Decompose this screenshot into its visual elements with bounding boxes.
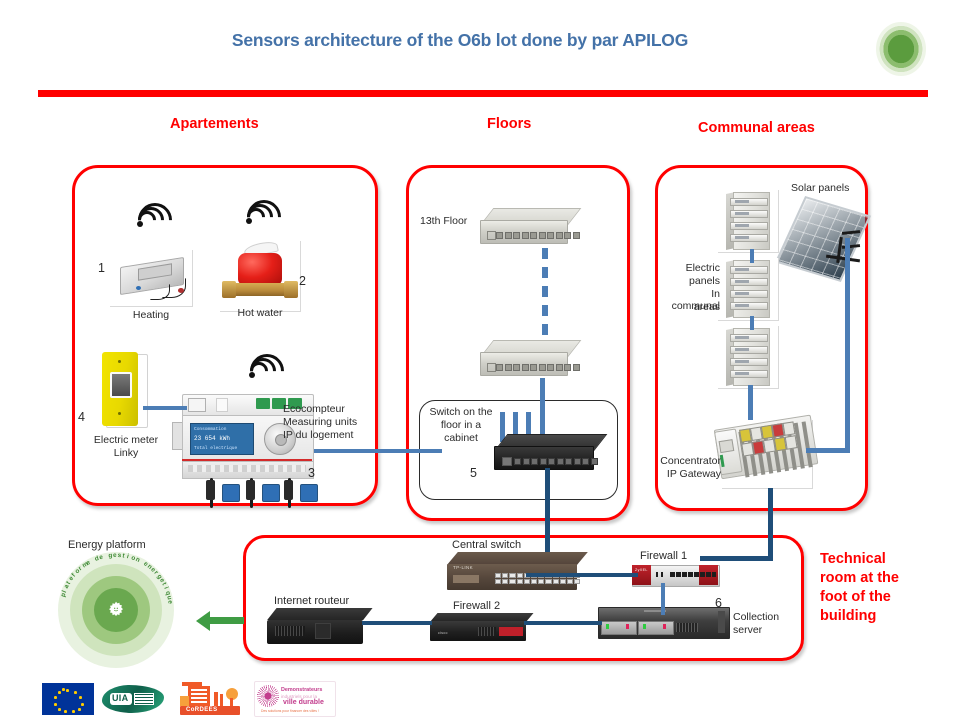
floor-cabinet-switch-image — [494, 434, 592, 470]
wire-cabinet-to-central-switch — [545, 468, 550, 558]
wire-panel1-panel2 — [750, 249, 754, 263]
linky-meter-image — [100, 350, 148, 432]
ecocompteur-screen: Consommation 23 654 kWh Total electrique — [190, 423, 254, 455]
slide-canvas: Sensors architecture of the O6b lot done… — [0, 0, 960, 720]
label-technical-room-line4: building — [820, 607, 950, 626]
section-caption-floors: Floors — [487, 116, 531, 132]
wire-panel2-panel3 — [750, 316, 754, 330]
wire-ecocompteur-to-floor-switch — [314, 449, 442, 453]
label-cabinet-line3: cabinet — [424, 432, 498, 444]
callout-number-3: 3 — [308, 466, 315, 480]
water-meter-image — [220, 241, 301, 312]
label-electric-panels-line2: panels — [665, 275, 720, 287]
demonstrateurs-logo: Demonstrateurs industriels pour la ville… — [254, 681, 336, 717]
label-technical-room-line2: room at the — [820, 569, 950, 588]
demonstrateurs-line1: Demonstrateurs — [281, 687, 322, 693]
label-technical-room: Technical room at the foot of the buildi… — [820, 550, 950, 627]
label-energy-platform: Energy platform — [68, 539, 146, 552]
eu-flag-logo — [42, 683, 94, 715]
label-heating: Heating — [110, 309, 192, 321]
label-concentrator-line1: Concentrator — [655, 455, 721, 467]
header-divider — [38, 90, 928, 97]
brand-circle-logo — [876, 22, 926, 76]
section-caption-apartments: Apartements — [170, 116, 259, 132]
callout-number-4: 4 — [78, 410, 85, 424]
ecocompteur-reading: 23 654 kWh — [194, 435, 230, 442]
energy-platform-logo: plateforme de gestion energetique — [58, 552, 174, 668]
label-technical-room-line3: foot of the — [820, 588, 950, 607]
label-collection-server-line2: server — [733, 624, 762, 636]
electric-panel-image-2 — [718, 258, 779, 321]
wire-linky-to-ecocompteur — [143, 406, 187, 410]
label-firewall-2: Firewall 2 — [453, 600, 500, 613]
label-firewall-1: Firewall 1 — [640, 550, 687, 563]
label-ecocompteur-line2: Measuring units — [283, 416, 403, 428]
wifi-icon-hotwater — [243, 203, 273, 227]
electric-panel-image-3 — [718, 326, 779, 389]
label-ecocompteur-line3: IP du logement — [283, 429, 403, 441]
uia-logo: UIA — [102, 682, 164, 716]
label-central-switch: Central switch — [452, 539, 521, 552]
label-ecocompteur-line1: Ecocompteur — [283, 403, 403, 415]
callout-number-1: 1 — [98, 261, 105, 275]
floor-switch-top-image — [480, 208, 566, 244]
wire-solar-down — [845, 238, 850, 452]
green-arrow-head — [196, 611, 210, 631]
wire-dashed-floors — [542, 248, 548, 342]
label-cabinet-line1: Switch on the — [424, 406, 498, 418]
wire-router-to-firewall2 — [362, 621, 432, 625]
concentrator-image — [722, 420, 813, 489]
green-arrow-shaft — [210, 617, 244, 624]
callout-number-2: 2 — [299, 274, 306, 288]
wire-switch-to-firewall1 — [526, 573, 638, 577]
label-solar-panels: Solar panels — [791, 182, 849, 194]
wire-firewall1-to-server — [661, 583, 665, 615]
demonstrateurs-line4: Des solutions pour financer des villes ! — [261, 709, 319, 713]
page-title: Sensors architecture of the O6b lot done… — [120, 30, 800, 51]
label-concentrator-line2: IP Gateway — [655, 468, 721, 480]
label-electric-panels-line4: areas — [665, 301, 720, 313]
section-caption-communal: Communal areas — [698, 120, 815, 136]
firewall-1-image: ZyXEL — [632, 565, 718, 585]
gear-icon — [106, 600, 126, 620]
wifi-icon-heating — [134, 206, 164, 230]
uia-logo-text: UIA — [112, 693, 128, 703]
internet-router-image — [267, 608, 363, 644]
floor-switch-middle-image — [480, 340, 566, 376]
demonstrateurs-line3: ville durable — [283, 699, 324, 706]
label-internet-router: Internet routeur — [274, 595, 349, 608]
wire-solar-to-concentrator — [806, 448, 850, 453]
wifi-icon-ecocompteur — [246, 357, 276, 381]
firewall-2-image: cisco — [430, 613, 526, 641]
label-collection-server-line1: Collection — [733, 611, 779, 623]
label-electric-meter-line2: Linky — [78, 447, 174, 459]
label-electric-panels-line1: Electric — [665, 262, 720, 274]
cordees-logo: CoRDEES — [178, 680, 242, 716]
label-technical-room-line1: Technical — [820, 550, 950, 569]
callout-number-5: 5 — [470, 466, 477, 480]
wire-concentrator-down — [768, 488, 773, 560]
label-cabinet-line2: floor in a — [424, 419, 498, 431]
central-switch-image: TP-LINK — [447, 552, 577, 590]
label-hot-water: Hot water — [216, 307, 304, 319]
cordees-logo-text: CoRDEES — [186, 707, 217, 713]
label-electric-meter-line1: Electric meter — [78, 434, 174, 446]
wire-firewall2-to-server — [524, 621, 602, 625]
electric-panel-image-1 — [718, 190, 779, 253]
heat-meter-image — [110, 250, 193, 307]
label-13th-floor: 13th Floor — [420, 215, 467, 227]
wire-concentrator-to-firewall1 — [700, 556, 773, 561]
